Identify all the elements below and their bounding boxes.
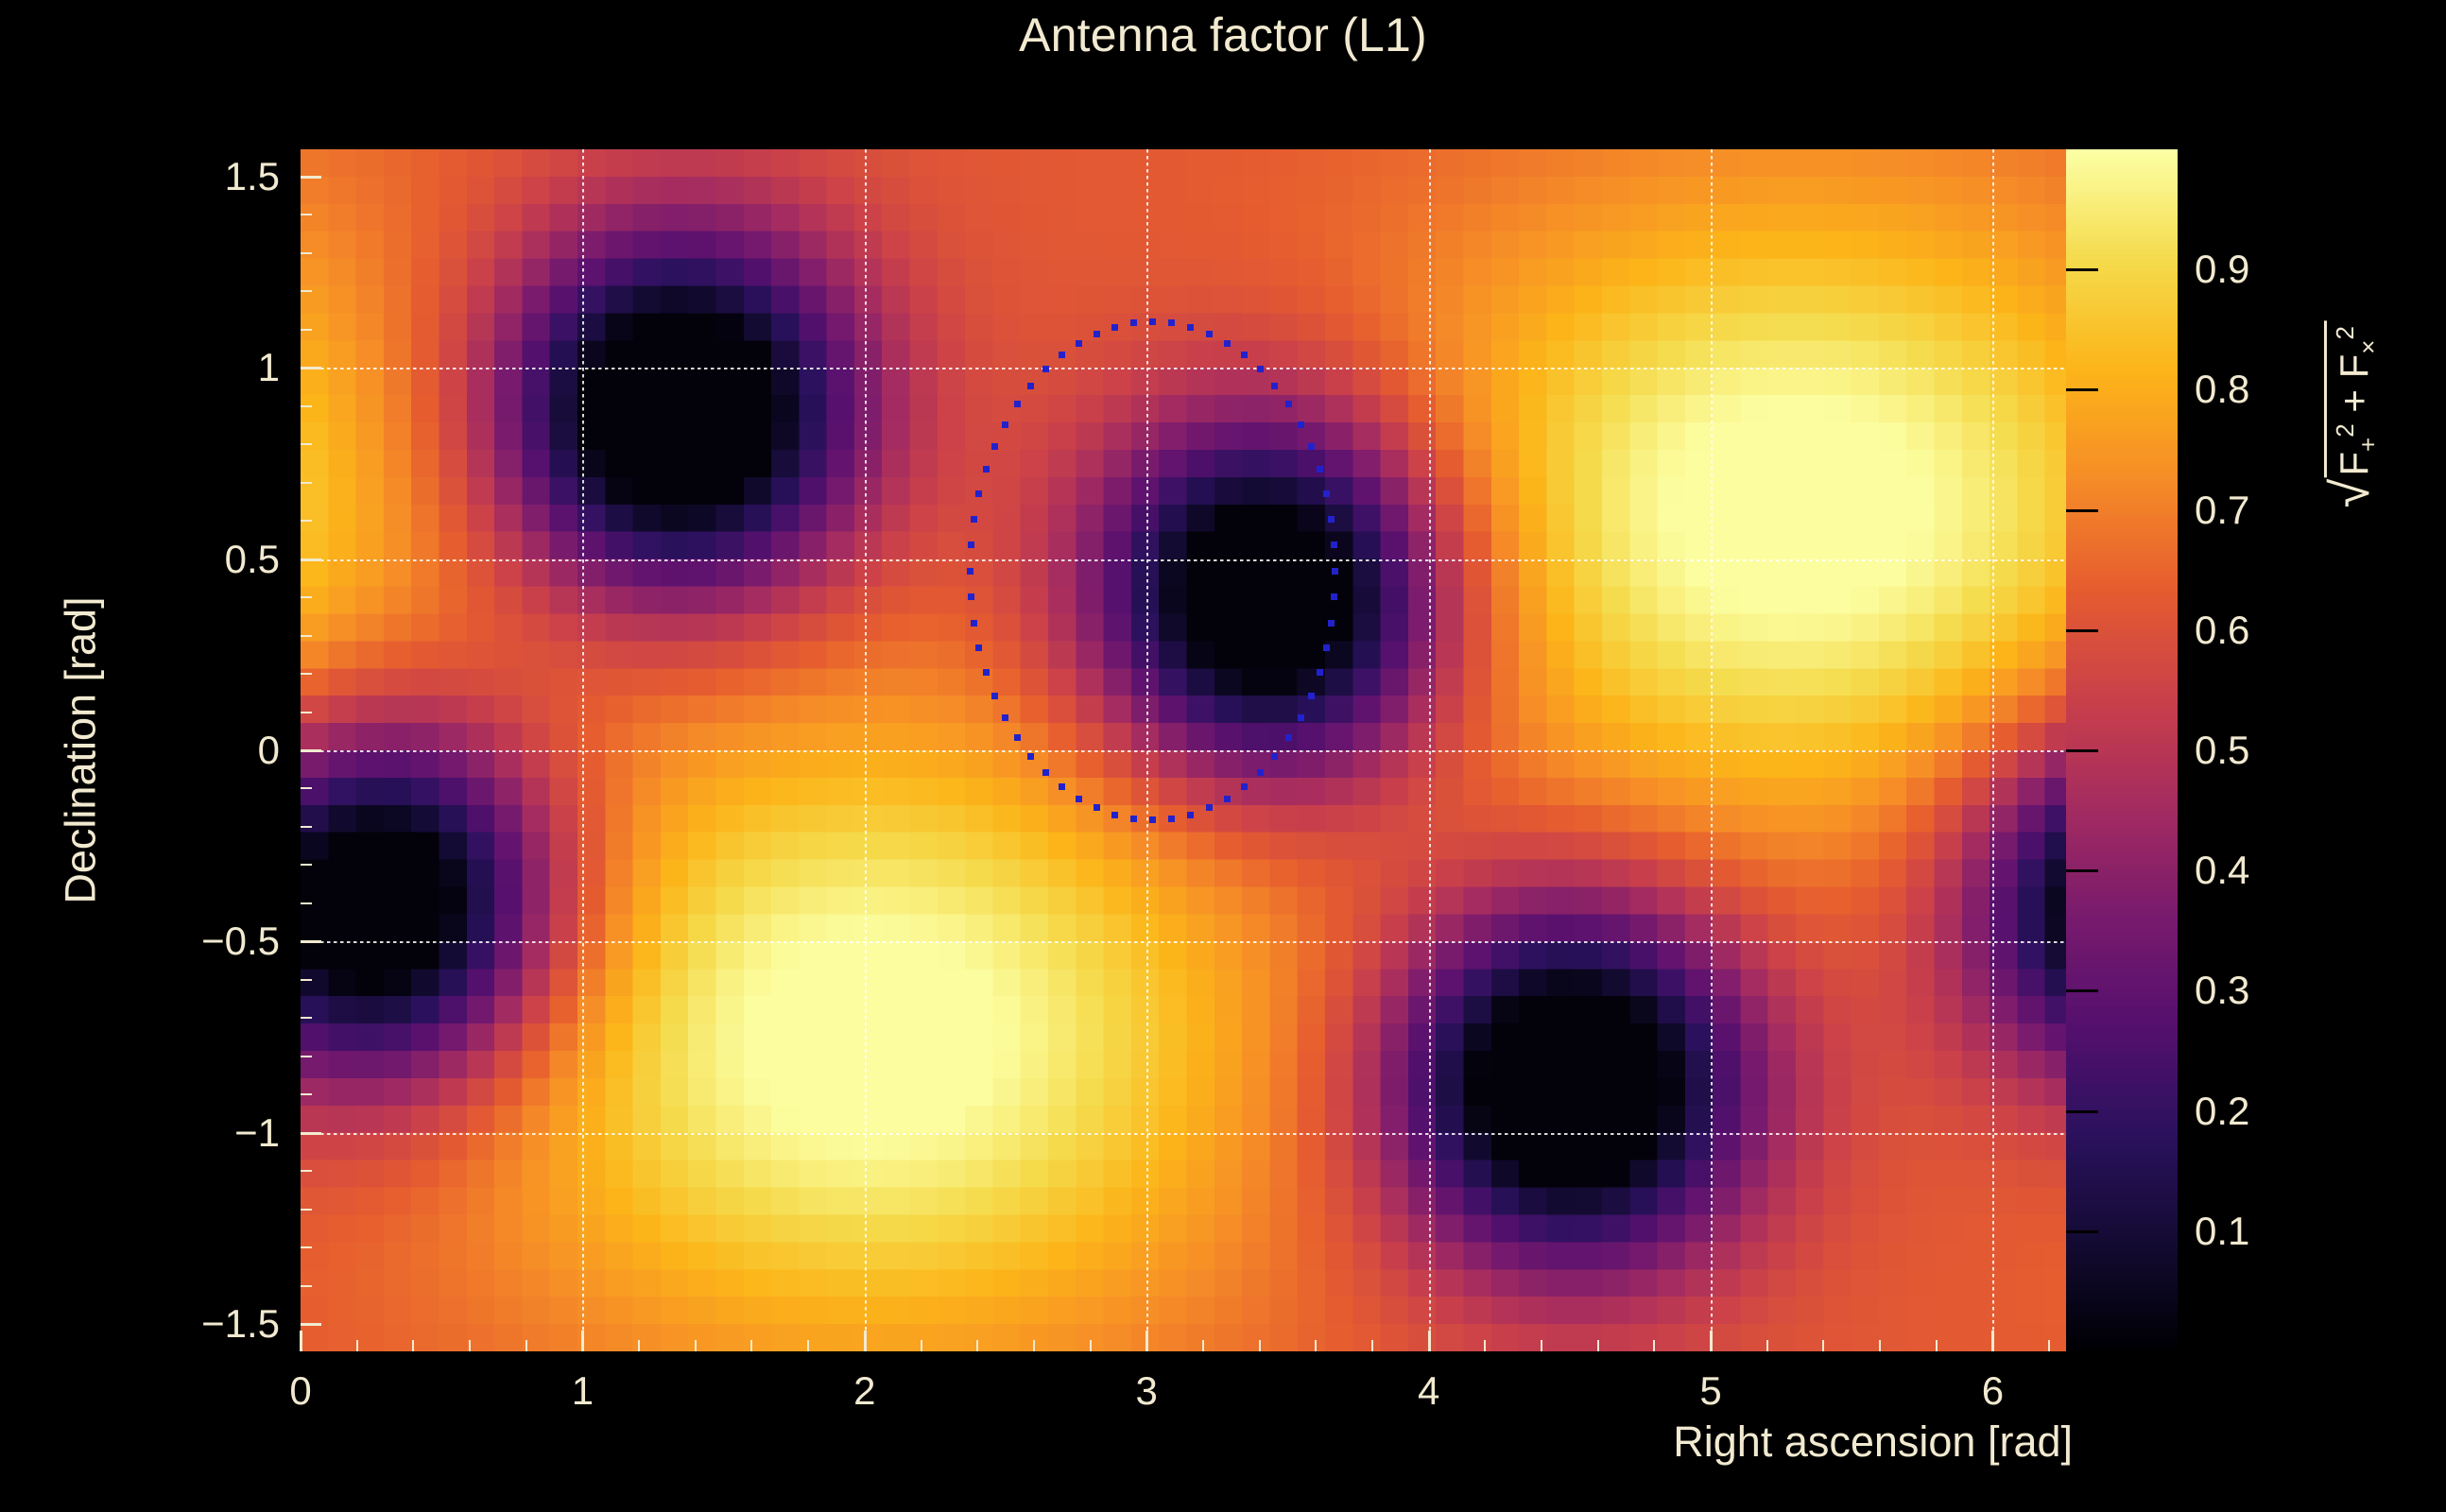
sky-localisation-marker xyxy=(1328,516,1335,523)
x-axis-minor-tick xyxy=(638,1340,640,1351)
x-axis-minor-tick xyxy=(1597,1340,1599,1351)
y-axis-title-text: Declination [rad] xyxy=(57,596,106,903)
sky-localisation-marker xyxy=(1187,812,1194,818)
sky-localisation-marker xyxy=(1332,568,1338,575)
y-axis-minor-tick xyxy=(301,864,312,866)
colorbar-tick-label: 0.9 xyxy=(2195,247,2249,292)
sky-localisation-marker xyxy=(1187,324,1194,331)
x-axis-minor-tick xyxy=(1315,1340,1317,1351)
y-axis-tick-label: −0.5 xyxy=(201,919,280,964)
sky-localisation-marker xyxy=(1206,331,1213,337)
sky-localisation-marker xyxy=(1111,812,1118,818)
colorbar-tick-label: 0.4 xyxy=(2195,848,2249,893)
x-axis-minor-tick xyxy=(1371,1340,1373,1351)
sky-localisation-marker xyxy=(1323,490,1330,497)
y-axis-minor-tick xyxy=(301,443,312,445)
sky-localisation-marker xyxy=(1094,804,1100,811)
sky-localisation-marker xyxy=(983,669,990,676)
x-axis-minor-tick xyxy=(750,1340,752,1351)
sky-localisation-marker xyxy=(967,568,973,575)
sky-localisation-marker xyxy=(1027,753,1034,760)
y-axis-minor-tick xyxy=(301,902,312,904)
colorbar-title: √F+2 + F×2 xyxy=(2320,149,2386,679)
sky-localisation-marker xyxy=(1027,383,1034,389)
y-axis-tick-label: 0 xyxy=(258,728,280,773)
radicand: F+2 + F×2 xyxy=(2324,320,2383,478)
sky-localisation-marker xyxy=(1257,366,1264,372)
sky-localisation-marker xyxy=(1241,783,1248,790)
y-axis-title: Declination [rad] xyxy=(55,149,108,1351)
y-axis-tick xyxy=(301,176,321,179)
sky-localisation-marker xyxy=(1002,421,1008,428)
x-axis-minor-tick xyxy=(525,1340,527,1351)
sky-localisation-marker xyxy=(1059,352,1065,358)
x-axis-minor-tick xyxy=(976,1340,978,1351)
sky-localisation-marker xyxy=(1317,669,1323,676)
colorbar-tick xyxy=(2066,1230,2098,1233)
x-axis-minor-tick xyxy=(1090,1340,1092,1351)
x-axis-tick-label: 4 xyxy=(1418,1368,1439,1414)
y-axis-tick xyxy=(301,1132,321,1135)
x-axis-tick-label: 0 xyxy=(289,1368,311,1414)
x-axis-tick-label: 3 xyxy=(1136,1368,1158,1414)
x-axis-minor-tick xyxy=(1484,1340,1486,1351)
x-axis-minor-tick xyxy=(1541,1340,1542,1351)
sky-localisation-marker xyxy=(1331,593,1337,600)
x-axis-tick xyxy=(1991,1331,1994,1351)
sky-localisation-marker xyxy=(1111,324,1118,331)
sky-localisation-marker xyxy=(1224,796,1231,802)
colorbar-tick xyxy=(2066,989,2098,992)
x-axis-minor-tick xyxy=(1202,1340,1204,1351)
y-axis-minor-tick xyxy=(301,1093,312,1095)
y-axis-minor-tick xyxy=(301,1017,312,1019)
y-axis-minor-tick xyxy=(301,596,312,598)
y-axis-minor-tick xyxy=(301,405,312,407)
sky-localisation-marker xyxy=(1042,366,1049,372)
sky-localisation-marker xyxy=(975,490,982,497)
x-axis-tick xyxy=(581,1331,584,1351)
sky-localisation-marker xyxy=(1149,816,1156,823)
y-axis-minor-tick xyxy=(301,673,312,675)
x-axis-tick-label: 6 xyxy=(1982,1368,2004,1414)
x-axis-tick-label: 5 xyxy=(1699,1368,1721,1414)
x-axis-tick xyxy=(300,1331,302,1351)
sky-localisation-marker xyxy=(1271,383,1278,389)
y-axis-minor-tick xyxy=(301,329,312,331)
x-axis-minor-tick xyxy=(469,1340,471,1351)
y-axis-tick-label: 1.5 xyxy=(225,154,280,199)
radical-icon: √ xyxy=(2324,478,2377,507)
x-axis-minor-tick xyxy=(1653,1340,1655,1351)
sky-localisation-marker xyxy=(1076,796,1082,802)
colorbar-tick-label: 0.1 xyxy=(2195,1209,2249,1254)
y-axis-minor-tick xyxy=(301,826,312,828)
y-axis-tick xyxy=(301,749,321,752)
x-axis-minor-tick xyxy=(921,1340,922,1351)
y-axis-tick xyxy=(301,1323,321,1326)
sky-localisation-marker xyxy=(1014,401,1021,407)
sky-localisation-marker xyxy=(968,593,974,600)
sky-localisation-marker xyxy=(975,644,982,651)
x-axis-tick-label: 1 xyxy=(572,1368,594,1414)
sky-localisation-marker xyxy=(1224,340,1231,347)
sky-localisation-marker xyxy=(1130,319,1137,326)
sky-localisation-marker xyxy=(1285,401,1292,407)
y-axis-minor-tick xyxy=(301,979,312,981)
sky-localisation-marker xyxy=(1257,769,1264,776)
sky-localisation-marker xyxy=(1076,340,1082,347)
sky-localisation-marker xyxy=(968,541,974,548)
sky-localisation-marker xyxy=(1168,319,1175,326)
sky-localisation-marker xyxy=(1298,714,1304,721)
y-axis-tick-label: 0.5 xyxy=(225,537,280,582)
colorbar-tick-label: 0.3 xyxy=(2195,968,2249,1013)
x-axis-minor-tick xyxy=(695,1340,697,1351)
colorbar-tick-label: 0.2 xyxy=(2195,1089,2249,1134)
x-axis-title: Right ascension [rad] xyxy=(0,1417,2073,1467)
y-axis-tick-label: −1.5 xyxy=(201,1301,280,1347)
x-axis-minor-tick xyxy=(1936,1340,1938,1351)
sky-localisation-marker xyxy=(1308,443,1315,450)
y-axis-minor-tick xyxy=(301,787,312,789)
y-axis-minor-tick xyxy=(301,1056,312,1057)
colorbar-tick xyxy=(2066,388,2098,391)
colorbar-tick-label: 0.5 xyxy=(2195,728,2249,773)
x-axis-minor-tick xyxy=(1259,1340,1261,1351)
x-axis-tick xyxy=(1145,1331,1148,1351)
sky-localisation-marker xyxy=(991,443,998,450)
y-axis-minor-tick xyxy=(301,1170,312,1172)
y-axis-minor-tick xyxy=(301,252,312,254)
sky-localisation-marker xyxy=(1328,620,1335,627)
y-axis-tick-label: −1 xyxy=(234,1110,280,1156)
heatmap-frame xyxy=(301,149,2073,1351)
y-axis-minor-tick xyxy=(301,1285,312,1287)
y-axis-tick xyxy=(301,940,321,943)
sky-localisation-marker xyxy=(1042,769,1049,776)
x-axis-minor-tick xyxy=(807,1340,809,1351)
y-axis-minor-tick xyxy=(301,520,312,522)
root-plot-canvas: Antenna factor (L1) Declination [rad] Ri… xyxy=(0,0,2446,1512)
y-axis-minor-tick xyxy=(301,1209,312,1211)
colorbar-tick xyxy=(2066,629,2098,632)
x-axis-minor-tick xyxy=(356,1340,358,1351)
colorbar-tick xyxy=(2066,509,2098,512)
sky-localisation-marker xyxy=(1206,804,1213,811)
x-axis-minor-tick xyxy=(1822,1340,1824,1351)
sky-localisation-marker xyxy=(1149,318,1156,325)
y-axis-tick xyxy=(301,367,321,369)
sky-localisation-marker xyxy=(1094,331,1100,337)
sky-localisation-marker xyxy=(1002,714,1008,721)
sky-localisation-marker xyxy=(1014,734,1021,741)
x-axis-tick xyxy=(864,1331,867,1351)
x-axis-tick-label: 2 xyxy=(853,1368,875,1414)
colorbar-tick xyxy=(2066,1110,2098,1113)
colorbar-tick-label: 0.7 xyxy=(2195,488,2249,533)
sky-localisation-marker xyxy=(1323,644,1330,651)
colorbar-tick xyxy=(2066,749,2098,752)
x-axis-tick xyxy=(1710,1331,1713,1351)
colorbar-tick-label: 0.8 xyxy=(2195,367,2249,412)
sky-localisation-marker xyxy=(971,620,977,627)
sky-localisation-marker xyxy=(1168,816,1175,822)
sky-localisation-marker xyxy=(1130,816,1137,822)
sky-localisation-marker xyxy=(1298,421,1304,428)
sky-localisation-marker xyxy=(1241,352,1248,358)
x-axis-minor-tick xyxy=(1879,1340,1881,1351)
x-axis-minor-tick xyxy=(1033,1340,1035,1351)
sky-localisation-marker xyxy=(1308,693,1315,699)
sky-localisation-marker xyxy=(1059,783,1065,790)
y-axis-tick xyxy=(301,558,321,561)
y-axis-minor-tick xyxy=(301,635,312,637)
colorbar-tick xyxy=(2066,869,2098,872)
colorbar-tick-label: 0.6 xyxy=(2195,608,2249,653)
y-axis-minor-tick xyxy=(301,712,312,713)
y-axis-minor-tick xyxy=(301,482,312,484)
y-axis-minor-tick xyxy=(301,214,312,215)
colorbar-title-text: √F+2 + F×2 xyxy=(2324,320,2383,507)
y-axis-tick-label: 1 xyxy=(258,345,280,390)
sky-localisation-marker xyxy=(1271,753,1278,760)
x-axis-tick xyxy=(1428,1331,1431,1351)
sky-localisation-marker xyxy=(983,466,990,472)
colorbar-tick xyxy=(2066,268,2098,271)
y-axis-minor-tick xyxy=(301,290,312,292)
sky-localisation-marker xyxy=(1285,734,1292,741)
x-axis-minor-tick xyxy=(412,1340,414,1351)
x-axis-minor-tick xyxy=(2048,1340,2050,1351)
x-axis-minor-tick xyxy=(1766,1340,1768,1351)
sky-localisation-marker xyxy=(991,693,998,699)
y-axis-minor-tick xyxy=(301,1246,312,1248)
sky-localisation-marker xyxy=(1331,541,1337,548)
sky-localisation-marker xyxy=(971,516,977,523)
page-title: Antenna factor (L1) xyxy=(0,8,2446,62)
sky-localisation-marker xyxy=(1317,466,1323,472)
